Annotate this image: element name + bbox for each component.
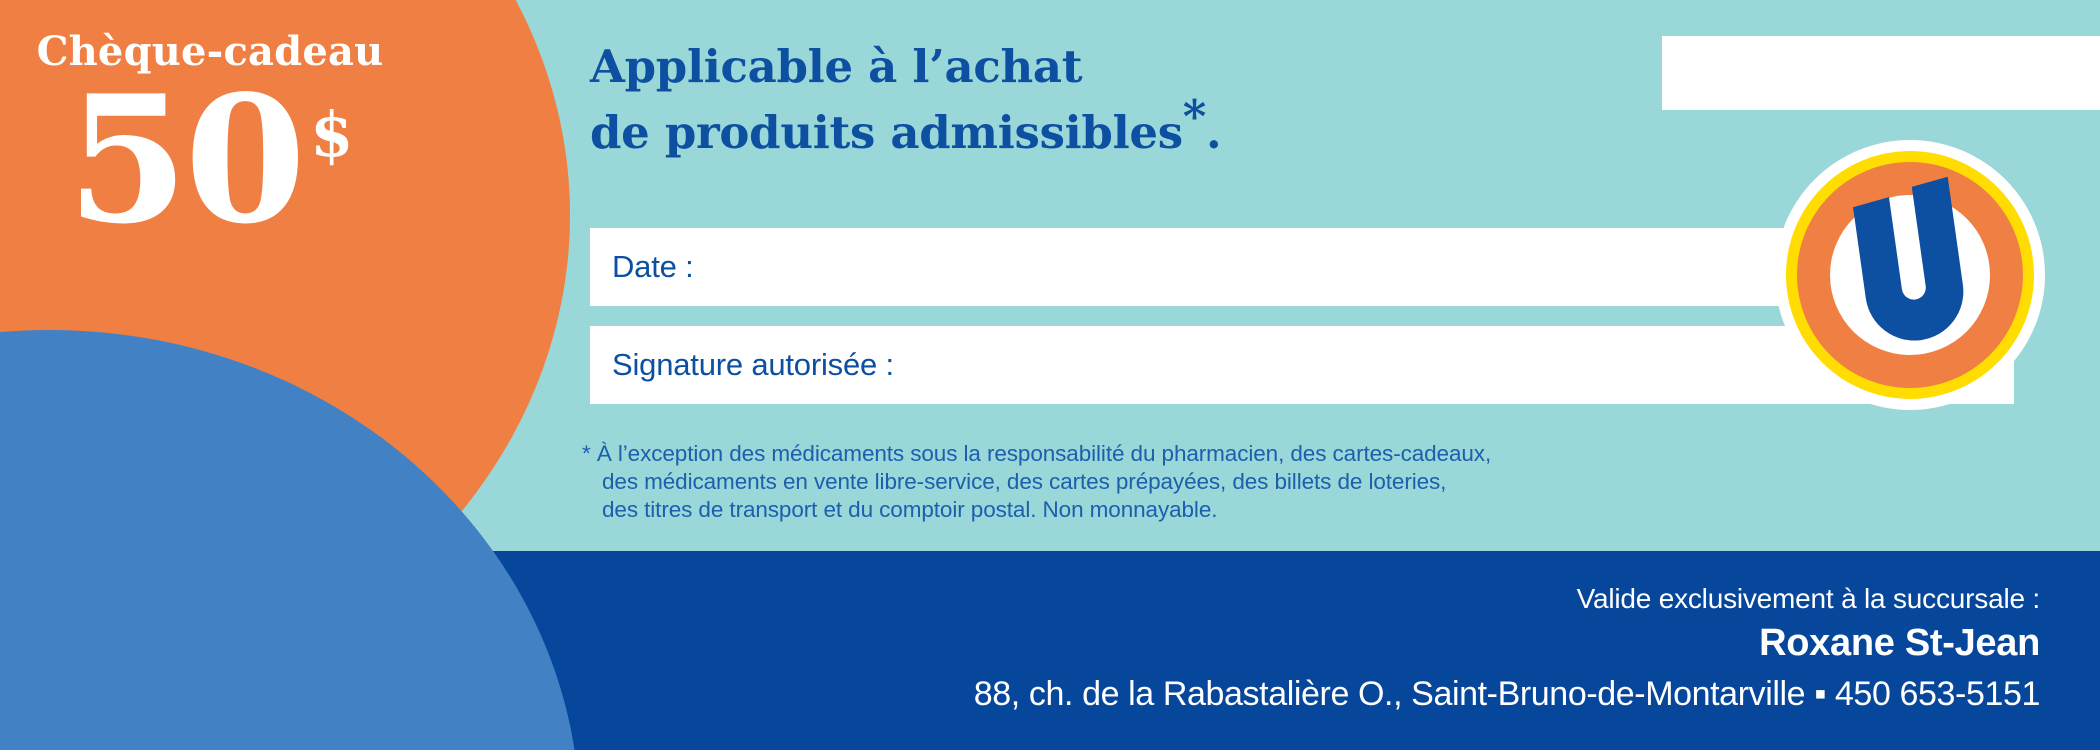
fineprint-line-1-text: À l’exception des médicaments sous la re… xyxy=(597,441,1491,466)
fineprint-line-2: des médicaments en vente libre-service, … xyxy=(582,468,1491,496)
headline-asterisk: * xyxy=(1183,90,1206,143)
uniprix-logo-icon xyxy=(1775,140,2045,410)
gift-certificate: Chèque-cadeau 50 $ Applicable à l’achat … xyxy=(0,0,2100,750)
amount-row: 50 $ xyxy=(0,78,420,244)
date-field-label: Date : xyxy=(612,249,694,285)
headline-line-1: Applicable à l’achat xyxy=(590,42,1221,92)
headline-period: . xyxy=(1206,106,1221,159)
amount-value: 50 xyxy=(67,78,303,244)
branch-block: Valide exclusivement à la succursale : R… xyxy=(974,582,2040,716)
denomination-block: Chèque-cadeau 50 $ xyxy=(0,0,420,330)
branch-name: Roxane St-Jean xyxy=(974,620,2040,668)
fineprint-line-1: * À l’exception des médicaments sous la … xyxy=(582,440,1491,468)
headline-line-2: de produits admissibles*. xyxy=(590,92,1221,158)
headline-line-2-text: de produits admissibles xyxy=(590,106,1183,159)
headline: Applicable à l’achat de produits admissi… xyxy=(590,42,1221,159)
branch-address: 88, ch. de la Rabastalière O., Saint-Bru… xyxy=(974,673,2040,716)
signature-field-label: Signature autorisée : xyxy=(612,347,894,383)
fineprint: * À l’exception des médicaments sous la … xyxy=(582,440,1491,524)
branch-valid-label: Valide exclusivement à la succursale : xyxy=(974,582,2040,616)
fineprint-marker: * xyxy=(582,441,591,466)
currency-symbol: $ xyxy=(310,104,353,166)
code-box[interactable] xyxy=(1662,36,2100,110)
fineprint-line-3: des titres de transport et du comptoir p… xyxy=(582,496,1491,524)
